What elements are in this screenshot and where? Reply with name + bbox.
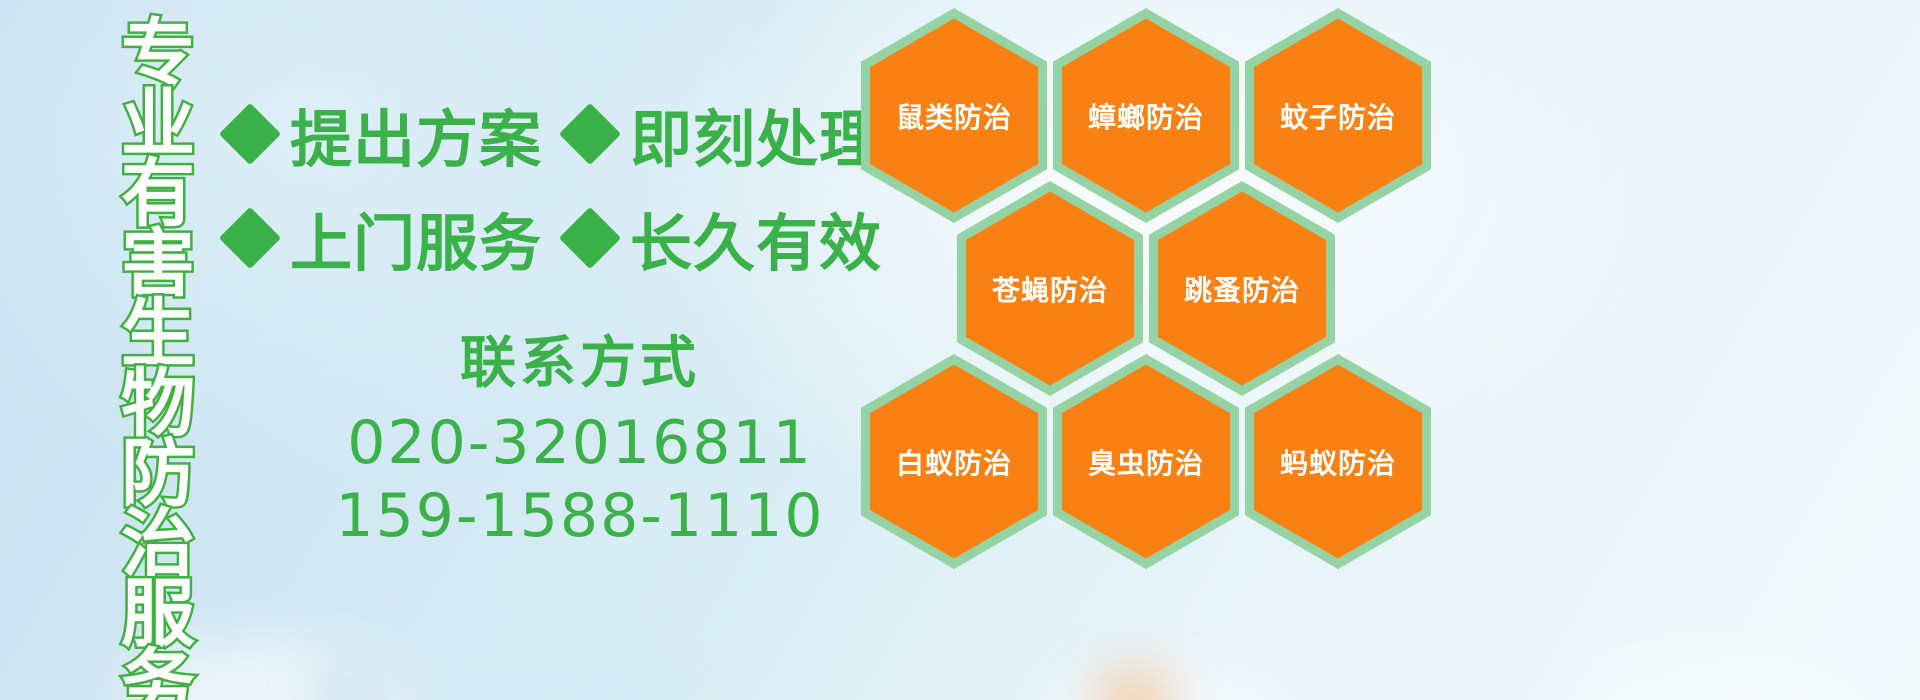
service-hex-bedbug[interactable]: 臭虫防治 <box>1053 354 1239 569</box>
vertical-headline-char: 专 <box>121 18 195 88</box>
vertical-headline-char: 务 <box>121 648 195 700</box>
feature-row: 上门服务 长久有效 <box>228 186 868 290</box>
vertical-headline-char: 服 <box>121 578 195 648</box>
phone-number-landline[interactable]: 020-32016811 <box>300 407 860 480</box>
phone-number-mobile[interactable]: 159-1588-1110 <box>300 480 860 553</box>
service-hex-fill: 蟑螂防治 <box>1062 19 1230 213</box>
feature-label: 提出方案 <box>290 89 542 179</box>
feature-label: 即刻处理 <box>630 89 882 179</box>
service-hex-fill: 白蚁防治 <box>870 365 1038 559</box>
service-hex-termite[interactable]: 白蚁防治 <box>861 354 1047 569</box>
vertical-headline-char: 治 <box>121 508 195 578</box>
feature-label: 上门服务 <box>290 193 542 283</box>
service-hex-label: 蚂蚁防治 <box>1280 442 1396 482</box>
service-hex-label: 跳蚤防治 <box>1184 269 1300 309</box>
service-hex-fill: 蚊子防治 <box>1254 19 1422 213</box>
background-blob <box>1560 650 1860 700</box>
diamond-bullet-icon <box>559 207 621 269</box>
service-hex-label: 蟑螂防治 <box>1088 96 1204 136</box>
service-hex-label: 鼠类防治 <box>896 96 1012 136</box>
vertical-headline-char: 业 <box>121 88 195 158</box>
service-hex-fill: 苍蝇防治 <box>966 192 1134 386</box>
service-hex-fill: 跳蚤防治 <box>1158 192 1326 386</box>
contact-title: 联系方式 <box>300 318 860 399</box>
service-hex-flea[interactable]: 跳蚤防治 <box>1149 181 1335 396</box>
service-hex-cockroach[interactable]: 蟑螂防治 <box>1053 8 1239 223</box>
vertical-headline-char: 有 <box>121 158 195 228</box>
feature-item: 提出方案 <box>228 89 542 179</box>
vertical-headline-char: 生 <box>121 298 195 368</box>
service-hex-label: 蚊子防治 <box>1280 96 1396 136</box>
feature-item: 即刻处理 <box>568 89 882 179</box>
diamond-bullet-icon <box>559 103 621 165</box>
service-hex-ant[interactable]: 蚂蚁防治 <box>1245 354 1431 569</box>
service-hex-mosquito[interactable]: 蚊子防治 <box>1245 8 1431 223</box>
diamond-bullet-icon <box>219 207 281 269</box>
pest-control-banner: 专 业 有 害 生 物 防 治 服 务 提出方案 即刻处理 上门服务 <box>0 0 1920 700</box>
service-hex-fly[interactable]: 苍蝇防治 <box>957 181 1143 396</box>
vertical-headline-char: 害 <box>121 228 195 298</box>
service-hex-fill: 臭虫防治 <box>1062 365 1230 559</box>
service-hex-fill: 鼠类防治 <box>870 19 1038 213</box>
contact-block: 联系方式 020-32016811 159-1588-1110 <box>300 318 860 553</box>
service-hex-label: 臭虫防治 <box>1088 442 1204 482</box>
service-hex-rodent[interactable]: 鼠类防治 <box>861 8 1047 223</box>
feature-item: 上门服务 <box>228 193 542 283</box>
vertical-headline-char: 防 <box>121 438 195 508</box>
feature-label: 长久有效 <box>630 193 882 283</box>
service-hex-label: 苍蝇防治 <box>992 269 1108 309</box>
feature-row: 提出方案 即刻处理 <box>228 82 868 186</box>
diamond-bullet-icon <box>219 103 281 165</box>
background-blob <box>430 655 690 700</box>
service-hex-fill: 蚂蚁防治 <box>1254 365 1422 559</box>
feature-item: 长久有效 <box>568 193 882 283</box>
service-hex-label: 白蚁防治 <box>896 442 1012 482</box>
feature-list: 提出方案 即刻处理 上门服务 长久有效 <box>228 82 868 290</box>
vertical-headline-char: 物 <box>121 368 195 438</box>
service-honeycomb: 鼠类防治 蟑螂防治 蚊子防治 苍蝇防治 跳蚤防治 白蚁防 <box>855 0 1455 700</box>
vertical-headline: 专 业 有 害 生 物 防 治 服 务 <box>112 18 204 700</box>
background-blob <box>320 672 380 700</box>
